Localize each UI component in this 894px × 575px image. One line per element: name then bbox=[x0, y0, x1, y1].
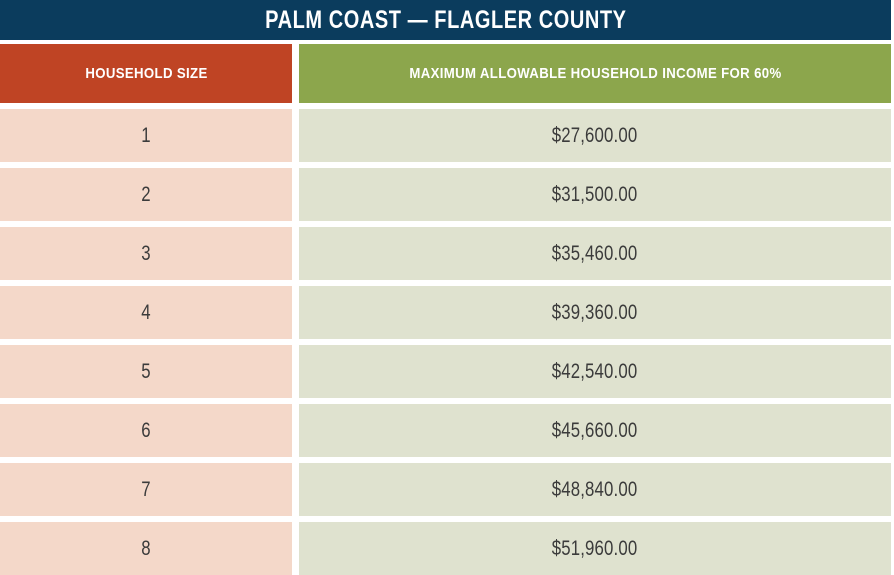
cell-household-size: 5 bbox=[0, 345, 292, 398]
table-row: 3 $35,460.00 bbox=[0, 227, 891, 280]
table-row: 4 $39,360.00 bbox=[0, 286, 891, 339]
cell-household-size: 4 bbox=[0, 286, 292, 339]
cell-household-size-value: 2 bbox=[141, 184, 151, 205]
column-divider bbox=[292, 286, 299, 339]
cell-max-income: $51,960.00 bbox=[299, 522, 891, 575]
cell-max-income-value: $48,840.00 bbox=[552, 479, 638, 500]
cell-household-size-value: 1 bbox=[141, 125, 151, 146]
column-header-max-income-label: MAXIMUM ALLOWABLE HOUSEHOLD INCOME FOR 6… bbox=[409, 66, 781, 81]
column-divider bbox=[292, 345, 299, 398]
column-divider bbox=[292, 168, 299, 221]
column-divider bbox=[292, 109, 299, 162]
cell-max-income-value: $51,960.00 bbox=[552, 538, 638, 559]
cell-max-income-value: $39,360.00 bbox=[552, 302, 638, 323]
cell-max-income: $48,840.00 bbox=[299, 463, 891, 516]
cell-household-size: 7 bbox=[0, 463, 292, 516]
column-header-max-income: MAXIMUM ALLOWABLE HOUSEHOLD INCOME FOR 6… bbox=[299, 44, 891, 103]
column-header-household-size: HOUSEHOLD SIZE bbox=[0, 44, 292, 103]
income-limits-table: PALM COAST — FLAGLER COUNTY HOUSEHOLD SI… bbox=[0, 0, 894, 528]
cell-household-size: 1 bbox=[0, 109, 292, 162]
column-divider bbox=[292, 227, 299, 280]
table-title-bar: PALM COAST — FLAGLER COUNTY bbox=[0, 0, 891, 40]
column-divider bbox=[292, 44, 299, 103]
cell-max-income: $45,660.00 bbox=[299, 404, 891, 457]
cell-household-size: 2 bbox=[0, 168, 292, 221]
cell-household-size-value: 6 bbox=[141, 420, 151, 441]
cell-household-size-value: 4 bbox=[141, 302, 151, 323]
cell-household-size-value: 8 bbox=[141, 538, 151, 559]
cell-max-income: $27,600.00 bbox=[299, 109, 891, 162]
cell-max-income: $31,500.00 bbox=[299, 168, 891, 221]
table-row: 7 $48,840.00 bbox=[0, 463, 891, 516]
table-row: 6 $45,660.00 bbox=[0, 404, 891, 457]
column-divider bbox=[292, 463, 299, 516]
cell-max-income-value: $42,540.00 bbox=[552, 361, 638, 382]
cell-max-income-value: $27,600.00 bbox=[552, 125, 638, 146]
cell-household-size: 3 bbox=[0, 227, 292, 280]
column-divider bbox=[292, 522, 299, 575]
cell-max-income: $35,460.00 bbox=[299, 227, 891, 280]
cell-household-size: 6 bbox=[0, 404, 292, 457]
table-row: 1 $27,600.00 bbox=[0, 109, 891, 162]
cell-household-size-value: 7 bbox=[141, 479, 151, 500]
cell-max-income: $39,360.00 bbox=[299, 286, 891, 339]
column-divider bbox=[292, 404, 299, 457]
table-header-row: HOUSEHOLD SIZE MAXIMUM ALLOWABLE HOUSEHO… bbox=[0, 44, 891, 103]
cell-max-income-value: $35,460.00 bbox=[552, 243, 638, 264]
table-title: PALM COAST — FLAGLER COUNTY bbox=[265, 8, 626, 33]
table-row: 5 $42,540.00 bbox=[0, 345, 891, 398]
column-header-household-size-label: HOUSEHOLD SIZE bbox=[85, 66, 207, 81]
cell-max-income: $42,540.00 bbox=[299, 345, 891, 398]
cell-max-income-value: $45,660.00 bbox=[552, 420, 638, 441]
cell-household-size-value: 5 bbox=[141, 361, 151, 382]
cell-max-income-value: $31,500.00 bbox=[552, 184, 638, 205]
cell-household-size-value: 3 bbox=[141, 243, 151, 264]
table-row: 2 $31,500.00 bbox=[0, 168, 891, 221]
cell-household-size: 8 bbox=[0, 522, 292, 575]
table-row: 8 $51,960.00 bbox=[0, 522, 891, 575]
